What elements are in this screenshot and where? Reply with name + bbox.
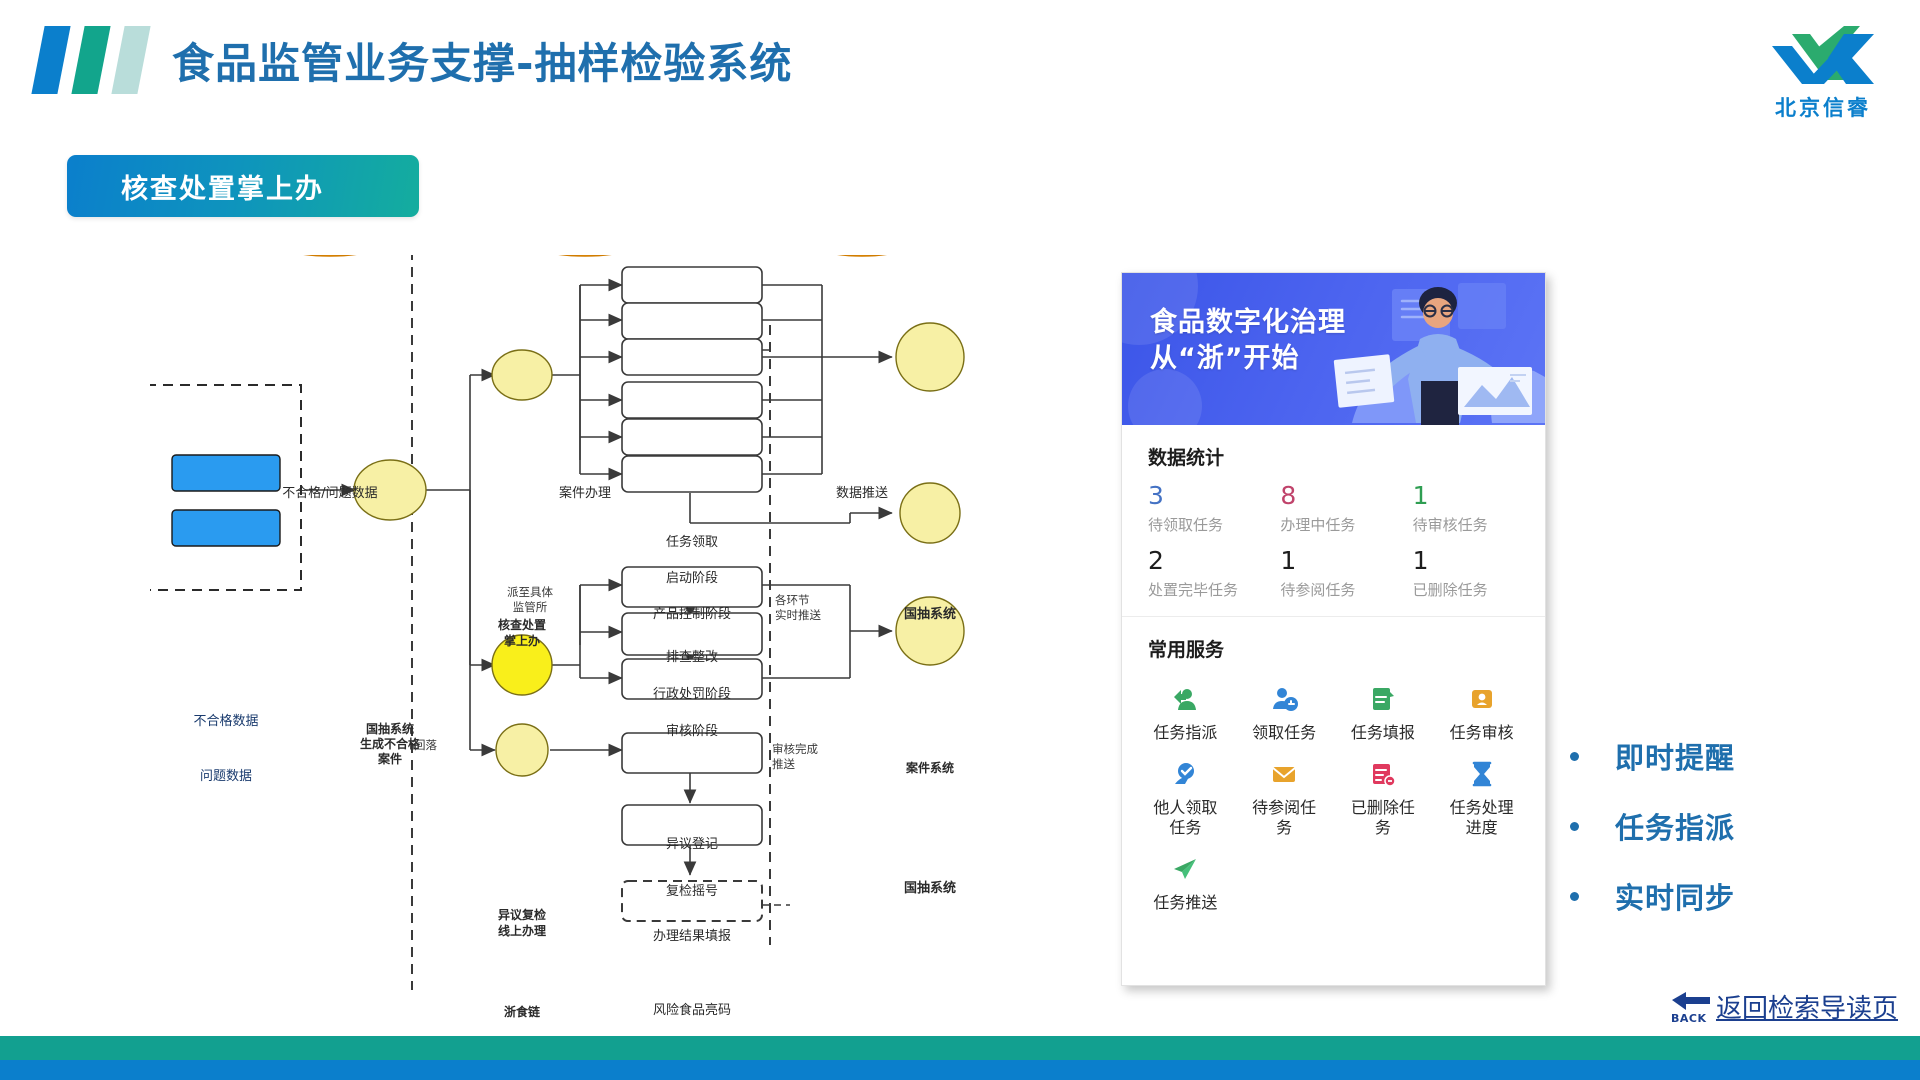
- banner-title-line1: 食品数字化治理: [1150, 305, 1346, 341]
- yellow-node-label-3: 浙食链: [488, 1003, 556, 1020]
- id-card-icon: [1467, 684, 1497, 714]
- stat-label: 待参阅任务: [1280, 579, 1412, 600]
- app-banner: 食品数字化治理 从“浙”开始: [1122, 273, 1545, 425]
- user-claim-icon: [1269, 684, 1299, 714]
- yellow-node-label-6: 国抽系统: [888, 877, 972, 896]
- hourglass-icon: [1467, 759, 1497, 789]
- section-pill-label: 核查处置掌上办: [121, 167, 324, 206]
- back-link[interactable]: BACK 返回检索导读页: [1670, 988, 1898, 1025]
- header-accent-bars: [38, 26, 160, 94]
- yellow-node-label-1: 核查处置 掌上办: [482, 618, 562, 649]
- section-pill[interactable]: 核查处置掌上办: [67, 155, 419, 217]
- accent-bar-1: [31, 26, 70, 94]
- service-item-task-assign[interactable]: 任务指派: [1136, 678, 1235, 743]
- stat-label: 待审核任务: [1413, 514, 1545, 535]
- bullet-dot-icon: [1570, 822, 1579, 831]
- page-title: 食品监管业务支撑-抽样检验系统: [172, 30, 792, 91]
- blue-box-label-1: 问题数据: [172, 765, 280, 784]
- service-item-task-progress[interactable]: 任务处理进度: [1432, 753, 1531, 838]
- edge-label-3: 回落: [414, 737, 437, 753]
- footer-teal-band: [0, 1036, 1920, 1060]
- footer-blue-band: [0, 1060, 1920, 1080]
- envelope-icon: [1269, 759, 1299, 789]
- process-box-label-u3: 排查整改: [622, 646, 762, 665]
- stat-label: 待领取任务: [1148, 514, 1280, 535]
- blue-box-label-0: 不合格数据: [172, 710, 280, 729]
- stat-card[interactable]: 2 处置完毕任务: [1148, 547, 1280, 600]
- service-label: 领取任务: [1248, 723, 1320, 743]
- paper-plane-icon: [1170, 854, 1200, 884]
- process-box-label-u5: 审核阶段: [622, 720, 762, 739]
- company-logo: 北京信睿: [1748, 18, 1898, 114]
- back-word-label: BACK: [1671, 1012, 1707, 1025]
- stats-title: 数据统计: [1122, 425, 1545, 472]
- service-label: 任务推送: [1149, 893, 1221, 913]
- service-item-deleted-task[interactable]: 已删除任务: [1334, 753, 1433, 838]
- stat-label: 已删除任务: [1413, 579, 1545, 600]
- node-label-orange-2: 数据推送: [804, 482, 920, 501]
- slide-page: 食品监管业务支撑-抽样检验系统 北京信睿 核查处置掌上办: [0, 0, 1920, 1080]
- service-item-others-claimed[interactable]: 他人领取任务: [1136, 753, 1235, 838]
- stat-card[interactable]: 1 待审核任务: [1413, 482, 1545, 535]
- stat-value: 2: [1148, 547, 1280, 576]
- service-label: 任务处理进度: [1446, 798, 1518, 838]
- feature-bullet-list: 即时提醒 任务指派 实时同步: [1570, 735, 1900, 945]
- process-box-label-l0: 异议登记: [622, 833, 762, 852]
- app-body: 数据统计 3 待领取任务 8 办理中任务 1 待审核任务 2 处置完毕任务: [1122, 425, 1545, 935]
- doc-edit-icon: [1368, 684, 1398, 714]
- mobile-app-screenshot: 食品数字化治理 从“浙”开始 数据统计 3 待领取任务 8 办理中任务 1 待审…: [1121, 272, 1546, 986]
- service-item-pending-review[interactable]: 待参阅任务: [1235, 753, 1334, 838]
- bullet-item: 任务指派: [1570, 805, 1900, 847]
- service-label: 待参阅任务: [1248, 798, 1320, 838]
- service-label: 任务指派: [1149, 723, 1221, 743]
- stat-label: 处置完毕任务: [1148, 579, 1280, 600]
- process-box-label-u4: 行政处罚阶段: [622, 683, 762, 702]
- stat-card[interactable]: 8 办理中任务: [1280, 482, 1412, 535]
- edge-label-1: 各环节 实时推送: [775, 593, 851, 623]
- back-link-label[interactable]: 返回检索导读页: [1716, 988, 1898, 1025]
- doc-delete-icon: [1368, 759, 1398, 789]
- process-flow-diagram: 不合格/问题数据 案件办理 数据推送 不合格数据 问题数据 国抽系统 生成不合格…: [150, 255, 1150, 995]
- stat-label: 办理中任务: [1280, 514, 1412, 535]
- bullet-dot-icon: [1570, 752, 1579, 761]
- stats-grid: 3 待领取任务 8 办理中任务 1 待审核任务 2 处置完毕任务 1 待参阅: [1122, 472, 1545, 616]
- back-arrow-icon: BACK: [1670, 990, 1712, 1024]
- stat-card[interactable]: 1 已删除任务: [1413, 547, 1545, 600]
- service-item-task-push[interactable]: 任务推送: [1136, 848, 1235, 913]
- banner-title: 食品数字化治理 从“浙”开始: [1150, 305, 1346, 378]
- stat-value: 1: [1413, 547, 1545, 576]
- service-label: 已删除任务: [1347, 798, 1419, 838]
- stat-value: 3: [1148, 482, 1280, 511]
- yellow-node-label-4: 国抽系统: [888, 603, 972, 622]
- service-item-claim-task[interactable]: 领取任务: [1235, 678, 1334, 743]
- check-badge-icon: [1170, 759, 1200, 789]
- service-label: 任务填报: [1347, 723, 1419, 743]
- edge-label-2: 审核完成 推送: [772, 742, 848, 772]
- service-item-task-audit[interactable]: 任务审核: [1432, 678, 1531, 743]
- bullet-item: 即时提醒: [1570, 735, 1900, 777]
- banner-title-line2: 从“浙”开始: [1150, 341, 1346, 377]
- service-label: 任务审核: [1446, 723, 1518, 743]
- process-box-label-l1: 复检摇号: [622, 880, 762, 899]
- bullet-item: 实时同步: [1570, 875, 1900, 917]
- bullet-label: 任务指派: [1615, 805, 1735, 847]
- edge-label-0: 派至具体 监管所: [490, 585, 570, 615]
- user-assign-icon: [1170, 684, 1200, 714]
- services-grid: 任务指派 领取任务 任务填报: [1122, 664, 1545, 935]
- process-box-label-l2: 办理结果填报: [622, 925, 762, 944]
- logo-mark-icon: [1748, 18, 1898, 90]
- node-label-orange-1: 案件办理: [523, 482, 647, 501]
- service-item-task-report[interactable]: 任务填报: [1334, 678, 1433, 743]
- logo-text: 北京信睿: [1748, 92, 1898, 122]
- stat-value: 1: [1413, 482, 1545, 511]
- process-box-label-u2: 产品控制阶段: [622, 603, 762, 622]
- process-box-label-l3: 风险食品亮码: [622, 999, 762, 1018]
- accent-bar-3: [111, 26, 150, 94]
- node-label-orange-0: 不合格/问题数据: [268, 482, 392, 501]
- stat-value: 8: [1280, 482, 1412, 511]
- stat-card[interactable]: 3 待领取任务: [1148, 482, 1280, 535]
- bullet-label: 即时提醒: [1615, 735, 1735, 777]
- yellow-node-label-5: 案件系统: [890, 759, 970, 776]
- bullet-label: 实时同步: [1615, 875, 1735, 917]
- bullet-dot-icon: [1570, 892, 1579, 901]
- yellow-node-label-2: 异议复检 线上办理: [482, 908, 562, 939]
- service-label: 他人领取任务: [1149, 798, 1221, 838]
- process-box-label-u0: 任务领取: [622, 531, 762, 550]
- process-box-label-u1: 启动阶段: [622, 567, 762, 586]
- accent-bar-2: [71, 26, 110, 94]
- stat-value: 1: [1280, 547, 1412, 576]
- services-title: 常用服务: [1122, 617, 1545, 664]
- stat-card[interactable]: 1 待参阅任务: [1280, 547, 1412, 600]
